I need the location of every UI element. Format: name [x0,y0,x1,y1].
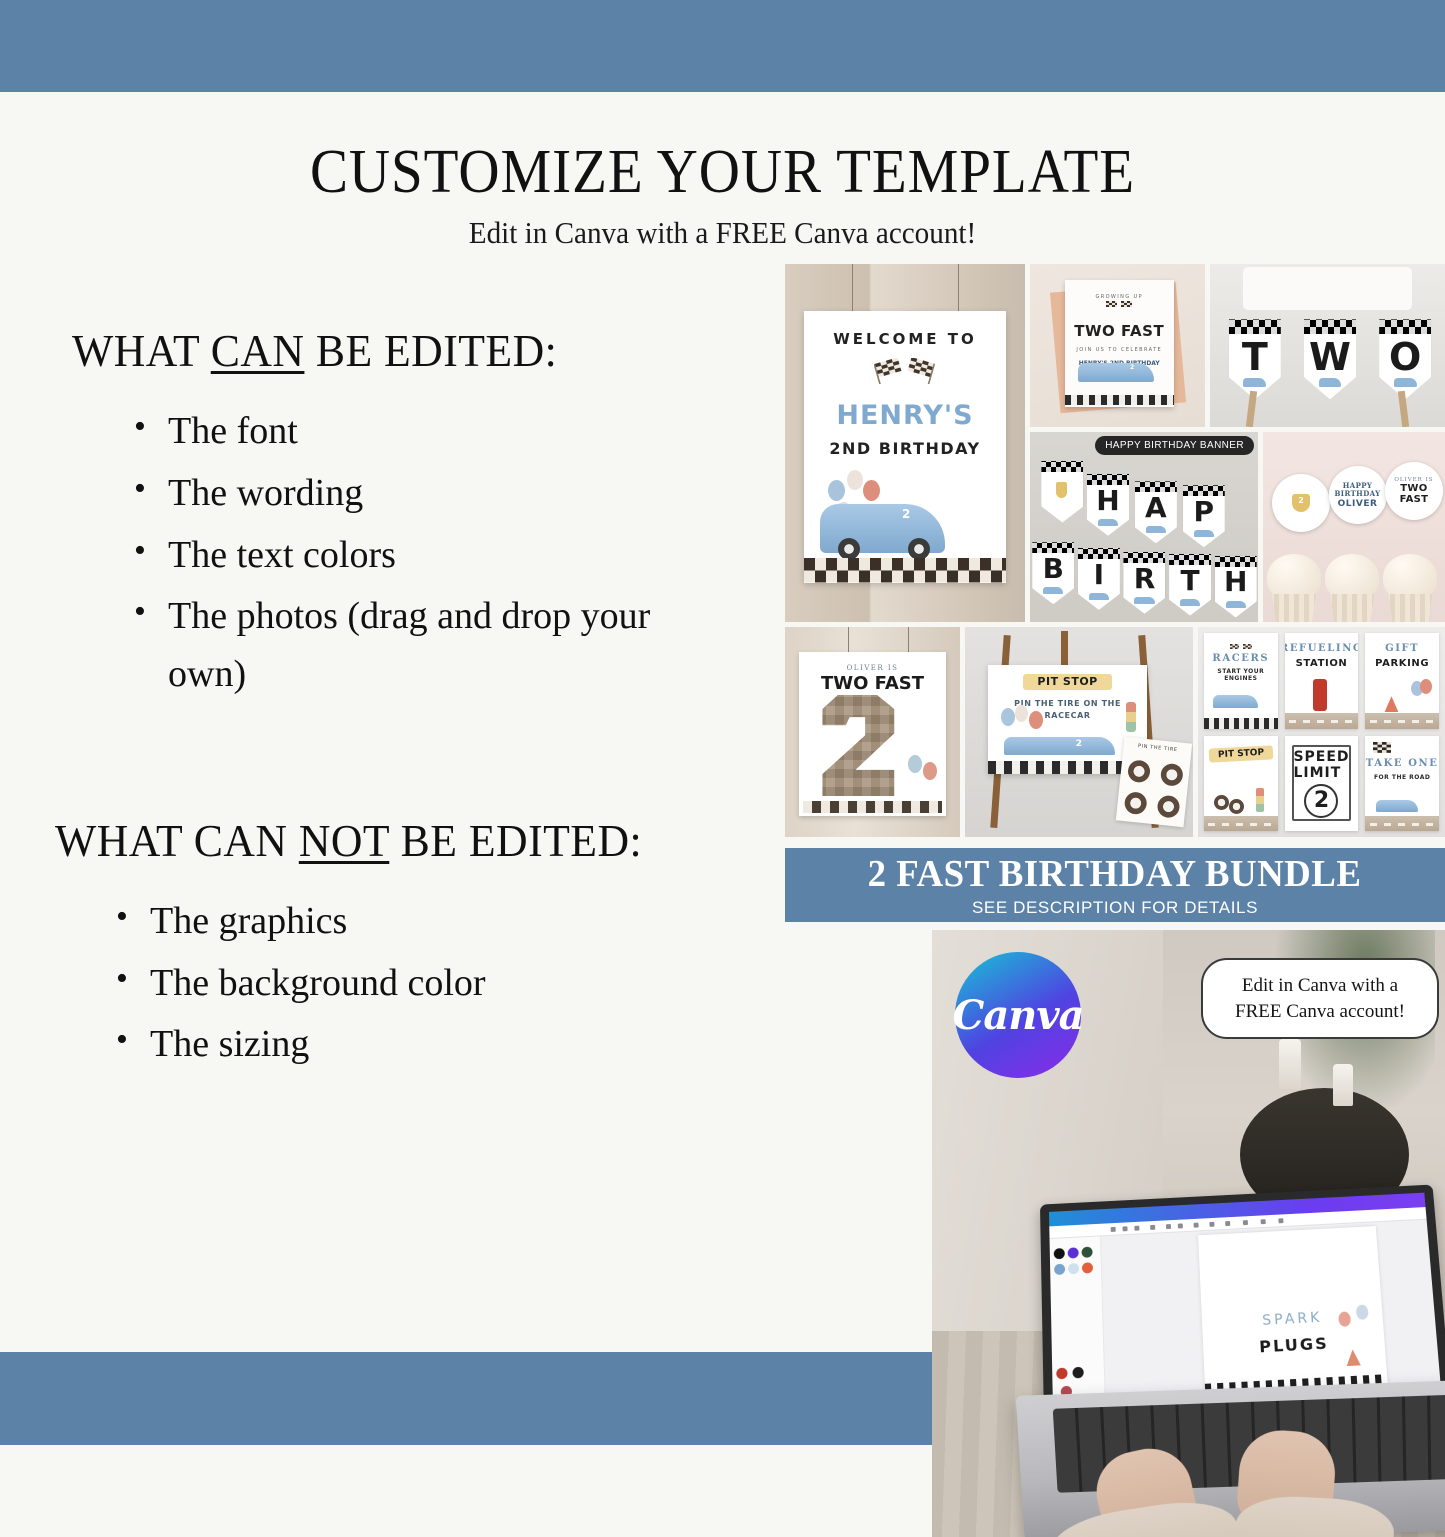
pennant-letter: H [1087,474,1129,536]
sign-subtitle: 2 [1304,784,1338,818]
pennant-letter: I [1078,548,1120,610]
bundle-subtitle: SEE DESCRIPTION FOR DETAILS [972,898,1258,918]
sign-title: TAKE ONE [1366,758,1439,771]
cannot-edit-section: WHAT CAN NOT BE EDITED: The graphics The… [0,814,760,1074]
cannot-edit-list: The graphics The background color The si… [55,893,760,1074]
tire-cutout-card: PIN THE TIRE [1116,737,1193,828]
cannot-edit-heading-before: WHAT CAN [55,815,299,866]
pennant-letter: R [1123,552,1165,614]
pit-stop-ribbon: PIT STOP [1023,674,1112,690]
pennant-letter: T [1169,554,1211,616]
tire-icon [1159,763,1183,787]
candle-decor [1279,1039,1301,1089]
cannot-edit-heading-after: BE EDITED: [389,815,642,866]
hbd-letter: P [1183,495,1225,528]
collage-photo-number-sign: OLIVER IS TWO FAST [785,627,960,837]
list-item: The background color [110,955,760,1013]
collage-party-signs: RACERS START YOUR ENGINES REFUELING STAT… [1198,627,1445,837]
traffic-light-icon [1256,788,1264,812]
pit-stop-ribbon-label: PIT STOP [1037,675,1097,688]
hbd-letter: T [1169,564,1211,597]
party-sign: PIT STOP [1204,736,1278,832]
tire-card-label: PIN THE TIRE [1123,742,1192,755]
road-strip [1365,713,1439,728]
sign-subtitle: START YOUR ENGINES [1204,668,1278,682]
pennant-letter: O [1379,319,1431,399]
cannot-edit-heading: WHAT CAN NOT BE EDITED: [55,814,725,867]
page-content: CUSTOMIZE YOUR TEMPLATE Edit in Canva wi… [0,92,1445,1352]
cupcake-topper: 2 [1272,474,1330,532]
checker-stripe [804,558,1006,582]
collage-invitation: GROWING UP TWO FAST JOIN US TO [1030,264,1205,427]
design-line2: PLUGS [1203,1331,1385,1360]
list-item: The photos (drag and drop your own) [128,588,688,704]
topper-line2: BIRTHDAY [1334,490,1380,498]
balloon-icon [1001,708,1015,726]
laptop-base [1016,1379,1445,1537]
pennant-letter: W [1304,319,1356,399]
cupcake-topper: HAPPY BIRTHDAY OLIVER [1329,466,1387,524]
sign-title: GIFT [1385,643,1419,656]
two-banner-letter: W [1304,335,1356,379]
welcome-sign-name: HENRY'S [836,400,973,431]
balloon-icon [1015,705,1028,722]
hbd-letter: I [1078,558,1120,591]
list-item: The sizing [110,1016,760,1074]
can-edit-heading-after: BE EDITED: [304,325,557,376]
checker-stripe [1065,395,1174,405]
traffic-cone-icon [1384,696,1398,712]
two-banner-letter: T [1229,335,1281,379]
party-sign: GIFT PARKING [1365,633,1439,729]
pit-stop-car-number: 2 [1076,739,1082,749]
hbd-letter: H [1215,565,1257,598]
checker-stripe [1204,718,1278,729]
list-item: The wording [128,465,760,523]
bundle-title: 2 FAST BIRTHDAY BUNDLE [868,852,1362,896]
list-item: The text colors [128,527,760,585]
bundle-banner: 2 FAST BIRTHDAY BUNDLE SEE DESCRIPTION F… [785,848,1445,922]
list-item: The font [128,403,760,461]
laptop: SPARK PLUGS [1020,1192,1445,1537]
racecar-icon [1213,695,1259,707]
pit-stop-instruction-2: RACECAR [1045,711,1091,720]
sign-title: REFUELING [1285,643,1359,656]
balloon-icon [923,762,937,780]
tire-icon [1124,791,1148,815]
racecar-icon [1376,800,1419,811]
can-edit-section: WHAT CAN BE EDITED: The font The wording… [0,324,760,704]
canva-callout-tooltip: Edit in Canva with a FREE Canva account! [1201,958,1439,1039]
canva-side-panel[interactable] [1050,1236,1106,1407]
tire-icon [1214,795,1229,810]
pennant-trophy [1041,461,1083,523]
racing-flags-icon [1229,643,1253,653]
party-sign-speed-limit: SPEED LIMIT 2 [1285,736,1359,832]
party-sign: RACERS START YOUR ENGINES [1204,633,1278,729]
tire-icon [1127,759,1151,783]
hbd-letter: H [1087,484,1129,517]
candle-decor [1333,1064,1353,1106]
party-sign: REFUELING STATION [1285,633,1359,729]
pennant-letter: B [1032,542,1074,604]
balloon-icon [847,470,863,490]
can-edit-heading: WHAT CAN BE EDITED: [72,324,726,377]
hbd-letter: A [1135,491,1177,524]
photo-sign-eyebrow: OLIVER IS [799,664,946,672]
page-subtitle: Edit in Canva with a FREE Canva account! [43,215,1401,251]
checkered-flag-icon [1371,741,1393,757]
photo-number-two [817,695,914,797]
invitation-subline: JOIN US TO CELEBRATE [1076,347,1162,353]
sign-title: RACERS [1212,653,1269,666]
racing-flags-icon [1104,300,1134,311]
topper-name: OLIVER [1338,499,1378,509]
sign-subtitle: STATION [1296,658,1348,669]
hbd-letter: B [1032,552,1074,585]
canva-logo: Canva [955,952,1081,1078]
hbd-letter: R [1123,562,1165,595]
product-collage: WELCOME TO [785,264,1445,842]
topper-number: 2 [1292,496,1310,505]
collage-welcome-sign: WELCOME TO [785,264,1025,622]
racecar-icon: 2 [1078,363,1154,382]
cannot-edit-heading-emphasis: NOT [299,815,389,866]
invitation-title: TWO FAST [1074,322,1164,340]
collage-pit-stop-game: PIT STOP PIN THE TIRE ON THE RACECAR 2 [965,627,1193,837]
tire-icon [1156,795,1180,819]
gas-pump-icon [1313,679,1328,711]
invitation-car-number: 2 [1130,364,1134,371]
pennant-letter: H [1215,556,1257,618]
welcome-sign-line1: WELCOME TO [833,330,977,348]
can-edit-list: The font The wording The text colors The… [72,403,760,704]
photo-sign-title: TWO FAST [799,673,946,694]
balloon-icon [1029,711,1043,729]
pennant-letter: A [1135,481,1177,543]
balloon-icon [863,480,880,501]
laptop-screen: SPARK PLUGS [1049,1193,1441,1408]
road-strip [1365,816,1439,831]
sign-title: SPEED LIMIT [1293,749,1349,781]
callout-line1: Edit in Canva with a [1242,975,1398,996]
callout-line2: FREE Canva account! [1235,1001,1405,1022]
pit-stop-instruction-1: PIN THE TIRE ON THE [1014,699,1121,708]
pennant-letter: P [1183,485,1225,547]
road-strip [1204,816,1278,831]
sign-subtitle: PARKING [1375,658,1429,669]
laptop-lid: SPARK PLUGS [1040,1185,1445,1416]
can-edit-heading-before: WHAT [72,325,211,376]
list-item: The graphics [110,893,760,951]
collage-cupcake-toppers: 2 HAPPY BIRTHDAY OLIVER OLIVER IS TWO FA… [1263,432,1445,622]
page-title: CUSTOMIZE YOUR TEMPLATE [58,140,1387,205]
two-banner-letter: O [1379,335,1431,379]
top-accent-bar [0,0,1445,92]
sign-title: PIT STOP [1208,746,1273,763]
balloon-icon [908,755,922,773]
party-sign: TAKE ONE FOR THE ROAD [1365,736,1439,832]
collage-two-banner: T W O [1210,264,1445,427]
balloon-icon [828,480,845,501]
racecar-icon: 2 [820,504,945,553]
canva-demo-photo: Canva Edit in Canva with a FREE Canva ac… [932,930,1445,1537]
traffic-cone-icon [1346,1349,1361,1366]
racing-flags-icon [874,358,936,384]
welcome-sign-car-number: 2 [902,507,910,521]
tire-icon [1229,799,1244,814]
pennant-letter: T [1229,319,1281,399]
balloon-icon [1420,679,1432,694]
editable-info-column: WHAT CAN BE EDITED: The font The wording… [0,324,760,1078]
canva-design-canvas[interactable]: SPARK PLUGS [1198,1226,1388,1393]
checker-stripe [803,801,941,812]
traffic-light-icon [1126,702,1136,732]
cupcake-topper: OLIVER IS TWO FAST [1385,462,1443,520]
canva-logo-text: Canva [953,992,1084,1039]
can-edit-heading-emphasis: CAN [211,325,305,376]
sign-subtitle: FOR THE ROAD [1374,774,1430,781]
road-strip [1285,713,1359,728]
banner-tag-label: HAPPY BIRTHDAY BANNER [1095,436,1254,455]
welcome-sign-line2: 2ND BIRTHDAY [829,439,980,458]
racecar-icon: 2 [1004,737,1116,756]
page-header: CUSTOMIZE YOUR TEMPLATE Edit in Canva wi… [0,140,1445,251]
collage-happy-birthday-banner: HAPPY BIRTHDAY BANNER H A P [1030,432,1258,622]
topper-title: TWO FAST [1385,483,1443,505]
